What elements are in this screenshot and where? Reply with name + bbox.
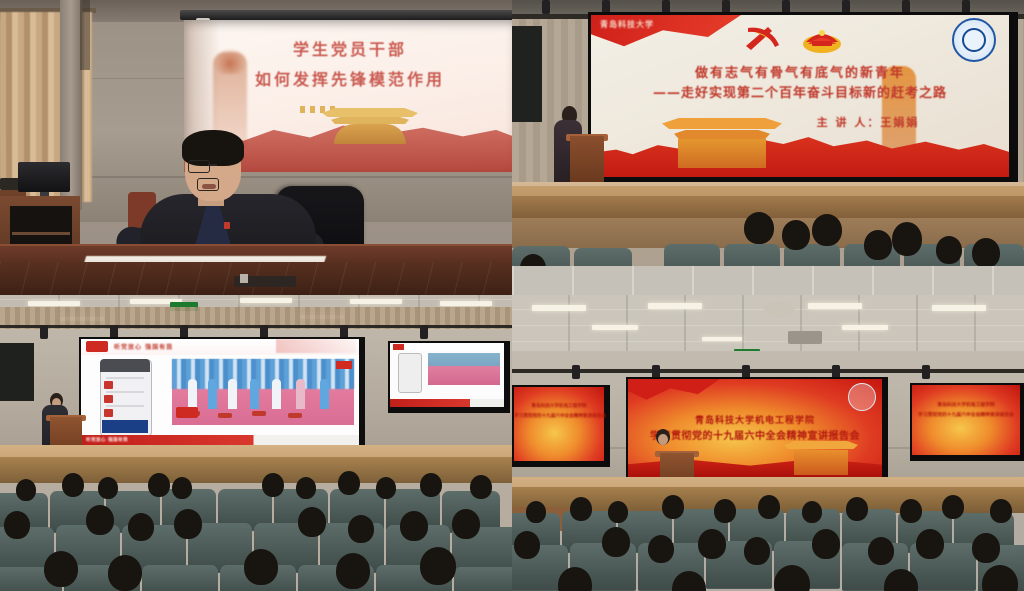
air-vent-icon (788, 331, 822, 344)
side-banner-left-line2: 学习贯彻党的十九届六中全会精神宣讲报告会 (514, 413, 604, 419)
tiananmen-gate-graphic (784, 441, 858, 475)
side-banner-right-line1: 青岛科技大学机电工程学院 (912, 401, 1020, 408)
phone-mockup-header (100, 359, 150, 372)
banner-line1: 青岛科技大学机电工程学院 (628, 413, 882, 426)
led-title-line1: 做有志气有骨气有底气的新青年 (591, 62, 1009, 81)
panel-top-right: 青岛科技大学 做有志气有骨气有底气的新青年 ——走好实现第二个百年奋斗 (512, 0, 1024, 295)
panel-bottom-right: 青岛科技大学机电工程学院 学习贯彻党的十九届六中全会精神宣讲报告会 青岛科技大学… (512, 295, 1024, 591)
blackboard (0, 343, 34, 401)
eyeglasses-bridge (208, 164, 217, 166)
blackboard (512, 26, 542, 122)
party-lapel-pin (224, 222, 230, 229)
anniversary-100-logo-icon (86, 341, 108, 352)
communist-youth-league-emblem-icon (802, 24, 842, 54)
qust-logo-inner (962, 28, 986, 52)
side-slide-photo (428, 353, 500, 385)
slide-footer-text: 听党放心 强国有我 (86, 437, 128, 443)
side-banner-left-line1: 青岛科技大学机电工程学院 (514, 403, 604, 409)
wall-shadow (80, 0, 90, 70)
side-banner-right-line2: 学习贯彻党的十九届六中全会精神宣讲报告会 (912, 411, 1020, 418)
slide-title-line1: 学生党员干部 (184, 36, 512, 60)
slide-title-line2: 如何发挥先锋模范作用 (184, 66, 512, 90)
photo-red-tag (336, 361, 352, 369)
audience (0, 471, 512, 591)
cabinet-shelf (12, 232, 70, 235)
computer-monitor (18, 162, 70, 192)
side-slide-header (390, 343, 504, 351)
led-speaker-label: 主 讲 人：王娟娟 (768, 114, 968, 130)
microphone-icon (240, 274, 248, 283)
photo-100-badge-icon (176, 407, 198, 418)
photo-collage: 学生党员干部 如何发挥先锋模范作用 (0, 0, 1024, 591)
tiananmen-gate-graphic (322, 108, 418, 144)
speaker-mouth (202, 184, 216, 189)
led-title-line2: ——走好实现第二个百年奋斗目标新的赶考之路 (591, 82, 1009, 101)
university-wordmark: 青岛科技大学 (600, 19, 676, 33)
panel-top-left: 学生党员干部 如何发挥先锋模范作用 (0, 0, 512, 295)
side-slide-100-logo-icon (393, 344, 404, 350)
projector-screen-case (180, 10, 512, 20)
lighting-truss (0, 325, 512, 328)
slide-title-block: 学生党员干部 如何发挥先锋模范作用 (184, 36, 512, 90)
front-desk-row (512, 266, 1024, 295)
slide-header-ornament (276, 339, 356, 353)
cpc-emblem-icon (742, 24, 784, 52)
ceiling-speaker-icon (764, 301, 794, 317)
side-banner-right (912, 385, 1020, 455)
qust-university-logo-icon (848, 383, 876, 411)
side-slide-footer-bar (390, 399, 504, 407)
lighting-truss (512, 369, 1024, 373)
stage-edge-highlight (512, 182, 1024, 186)
audience (512, 495, 1024, 591)
phone-mockup-footer (102, 420, 148, 433)
slide-header-title: 听党放心 强国有我 (114, 342, 173, 351)
side-banner-left (514, 387, 604, 461)
side-slide-phone-mockup (398, 353, 422, 393)
tiananmen-gate-graphic (662, 118, 782, 168)
panel-bottom-left: 听党放心 强国有我 听党放心 强国有我 (0, 295, 512, 591)
